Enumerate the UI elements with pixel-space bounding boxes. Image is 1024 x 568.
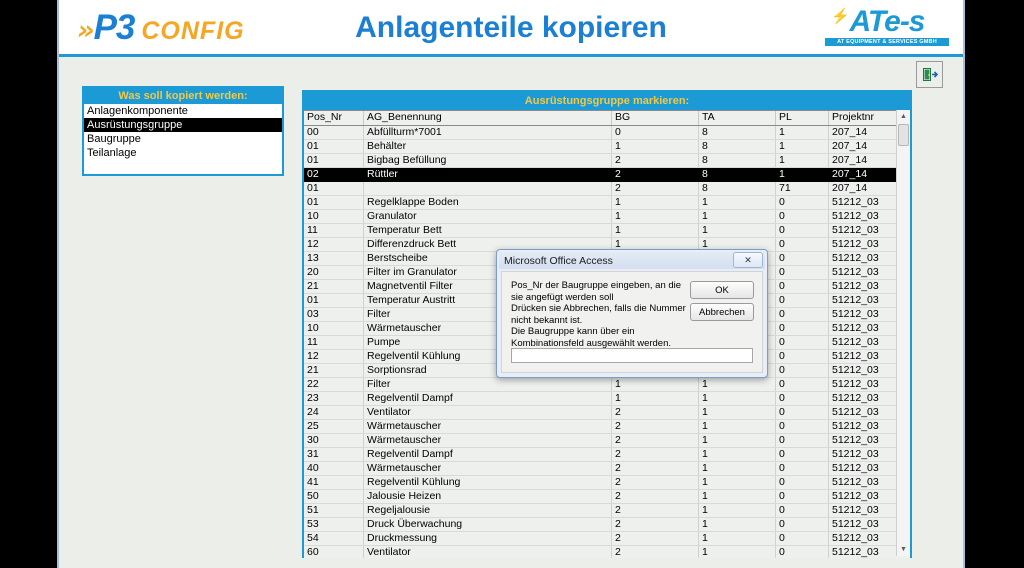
grid-row[interactable]: 30Wärmetauscher21051212_03 — [304, 434, 910, 448]
ates-company-logo: ⚡ ATe-s AT EQUIPMENT & SERVICES GMBH — [825, 6, 949, 46]
grid-cell: 51212_03 — [829, 392, 900, 405]
grid-cell: 21 — [304, 280, 364, 293]
grid-cell: 0 — [776, 266, 829, 279]
grid-cell: 0 — [776, 504, 829, 517]
grid-column-header[interactable]: Projektnr — [829, 111, 900, 125]
grid-cell: 51212_03 — [829, 280, 900, 293]
copy-target-panel-title: Was soll kopiert werden: — [84, 88, 282, 104]
grid-cell: 24 — [304, 406, 364, 419]
grid-row[interactable]: 012871207_14 — [304, 182, 910, 196]
grid-cell: 51212_03 — [829, 308, 900, 321]
scrollbar-thumb[interactable] — [898, 124, 909, 146]
grid-cell: 1 — [699, 378, 776, 391]
grid-cell: 0 — [776, 532, 829, 545]
dialog-message-line: Pos_Nr der Baugruppe eingeben, an die si… — [511, 280, 686, 303]
grid-row[interactable]: 00Abfüllturm*7001081207_14 — [304, 126, 910, 140]
ates-subtitle: AT EQUIPMENT & SERVICES GMBH — [825, 38, 949, 46]
grid-vertical-scrollbar[interactable]: ▲ ▼ — [896, 110, 910, 556]
grid-cell: 50 — [304, 490, 364, 503]
grid-cell: 1 — [612, 196, 699, 209]
grid-cell: 01 — [304, 294, 364, 307]
grid-row[interactable]: 01Bigbag Befüllung281207_14 — [304, 154, 910, 168]
grid-cell: Filter — [364, 378, 612, 391]
exit-door-icon[interactable] — [916, 61, 943, 88]
grid-cell: 51212_03 — [829, 196, 900, 209]
grid-cell: Regelventil Dampf — [364, 448, 612, 461]
grid-cell: 51212_03 — [829, 238, 900, 251]
grid-cell: 2 — [612, 504, 699, 517]
grid-cell: Druckmessung — [364, 532, 612, 545]
application-window: » P3 CONFIG Anlagenteile kopieren ⚡ ATe-… — [57, 0, 965, 568]
grid-cell: 1 — [699, 532, 776, 545]
grid-cell: 02 — [304, 168, 364, 181]
grid-cell: 2 — [612, 476, 699, 489]
grid-row[interactable]: 54Druckmessung21051212_03 — [304, 532, 910, 546]
grid-row[interactable]: 40Wärmetauscher21051212_03 — [304, 462, 910, 476]
grid-cell: 1 — [699, 504, 776, 517]
grid-cell: 51212_03 — [829, 294, 900, 307]
grid-cell: 0 — [612, 126, 699, 139]
grid-row[interactable]: 51Regeljalousie21051212_03 — [304, 504, 910, 518]
grid-cell: 12 — [304, 350, 364, 363]
grid-cell: 51212_03 — [829, 252, 900, 265]
grid-cell: 54 — [304, 532, 364, 545]
grid-cell: 2 — [612, 518, 699, 531]
grid-cell: 0 — [776, 238, 829, 251]
grid-cell: 51212_03 — [829, 448, 900, 461]
grid-cell: 2 — [612, 154, 699, 167]
grid-column-header[interactable]: TA — [699, 111, 776, 125]
grid-row[interactable]: 02Rüttler281207_14 — [304, 168, 910, 182]
grid-cell: 2 — [612, 546, 699, 558]
grid-cell: 51212_03 — [829, 420, 900, 433]
grid-cell: 2 — [612, 168, 699, 181]
grid-cell: 8 — [699, 168, 776, 181]
grid-cell: 10 — [304, 322, 364, 335]
scroll-up-arrow-icon[interactable]: ▲ — [897, 110, 910, 123]
grid-cell: 2 — [612, 182, 699, 195]
grid-cell: 12 — [304, 238, 364, 251]
grid-row[interactable]: 01Regelklappe Boden11051212_03 — [304, 196, 910, 210]
grid-cell: 1 — [699, 196, 776, 209]
grid-cell: 0 — [776, 364, 829, 377]
grid-cell: 22 — [304, 378, 364, 391]
grid-cell: 207_14 — [829, 140, 900, 153]
grid-cell: 0 — [776, 294, 829, 307]
grid-cell — [364, 182, 612, 195]
grid-cell: 51212_03 — [829, 406, 900, 419]
grid-cell: 11 — [304, 224, 364, 237]
grid-cell: 51212_03 — [829, 434, 900, 447]
grid-cell: 51212_03 — [829, 532, 900, 545]
grid-cell: 0 — [776, 336, 829, 349]
grid-cell: Regelventil Kühlung — [364, 476, 612, 489]
grid-row[interactable]: 22Filter11051212_03 — [304, 378, 910, 392]
copy-target-item[interactable]: Teilanlage — [84, 146, 282, 160]
grid-cell: 11 — [304, 336, 364, 349]
grid-row[interactable]: 60Ventilator21051212_03 — [304, 546, 910, 558]
grid-row[interactable]: 50Jalousie Heizen21051212_03 — [304, 490, 910, 504]
grid-cell: Wärmetauscher — [364, 420, 612, 433]
grid-cell: 1 — [699, 518, 776, 531]
grid-cell: 0 — [776, 322, 829, 335]
grid-title: Ausrüstungsgruppe markieren: — [304, 92, 910, 110]
grid-cell: 51212_03 — [829, 322, 900, 335]
grid-row[interactable]: 41Regelventil Kühlung21051212_03 — [304, 476, 910, 490]
grid-cell: 8 — [699, 154, 776, 167]
exit-door-glyph — [921, 66, 938, 83]
grid-cell: 8 — [699, 182, 776, 195]
grid-cell: 1 — [776, 140, 829, 153]
grid-row[interactable]: 53Druck Überwachung21051212_03 — [304, 518, 910, 532]
dialog-message: Pos_Nr der Baugruppe eingeben, an die si… — [511, 280, 686, 349]
grid-cell: 1 — [699, 448, 776, 461]
grid-cell: 1 — [612, 224, 699, 237]
grid-cell: 51212_03 — [829, 266, 900, 279]
grid-cell: 01 — [304, 154, 364, 167]
grid-cell: 51212_03 — [829, 210, 900, 223]
grid-cell: 30 — [304, 434, 364, 447]
grid-cell: 51212_03 — [829, 224, 900, 237]
grid-cell: 1 — [776, 168, 829, 181]
grid-cell: Regelventil Dampf — [364, 392, 612, 405]
grid-cell: 23 — [304, 392, 364, 405]
grid-cell: 0 — [776, 420, 829, 433]
grid-cell: 1 — [612, 378, 699, 391]
grid-row[interactable]: 11Temperatur Bett11051212_03 — [304, 224, 910, 238]
access-input-dialog: Microsoft Office Access ✕ Pos_Nr der Bau… — [496, 249, 768, 378]
copy-target-panel: Was soll kopiert werden: Anlagenkomponen… — [82, 86, 284, 176]
grid-cell: 0 — [776, 518, 829, 531]
grid-cell: Granulator — [364, 210, 612, 223]
dialog-title-bar: Microsoft Office Access — [499, 252, 765, 269]
ok-button[interactable]: OK — [690, 281, 754, 299]
grid-cell: 0 — [776, 210, 829, 223]
grid-cell: 53 — [304, 518, 364, 531]
grid-cell: 00 — [304, 126, 364, 139]
grid-row[interactable]: 25Wärmetauscher21051212_03 — [304, 420, 910, 434]
grid-cell: 2 — [612, 420, 699, 433]
grid-cell: 2 — [612, 406, 699, 419]
grid-column-header[interactable]: Pos_Nr — [304, 111, 364, 125]
grid-cell: Regelklappe Boden — [364, 196, 612, 209]
grid-row[interactable]: 24Ventilator21051212_03 — [304, 406, 910, 420]
grid-cell: 1 — [776, 126, 829, 139]
grid-cell: 0 — [776, 462, 829, 475]
grid-cell: Jalousie Heizen — [364, 490, 612, 503]
grid-row[interactable]: 10Granulator11051212_03 — [304, 210, 910, 224]
grid-cell: 0 — [776, 476, 829, 489]
app-header: » P3 CONFIG Anlagenteile kopieren ⚡ ATe-… — [59, 0, 963, 57]
grid-header-row: Pos_NrAG_BenennungBGTAPLProjektnr — [304, 110, 910, 126]
grid-cell: 21 — [304, 364, 364, 377]
grid-cell: 0 — [776, 308, 829, 321]
grid-cell: 1 — [699, 434, 776, 447]
grid-cell: 51212_03 — [829, 518, 900, 531]
grid-cell: Regeljalousie — [364, 504, 612, 517]
grid-cell: 0 — [776, 406, 829, 419]
copy-target-item[interactable]: Ausrüstungsgruppe — [84, 118, 282, 132]
grid-cell: 1 — [776, 154, 829, 167]
grid-cell: 0 — [776, 490, 829, 503]
grid-cell: 51212_03 — [829, 476, 900, 489]
grid-row[interactable]: 23Regelventil Dampf11051212_03 — [304, 392, 910, 406]
cancel-button[interactable]: Abbrechen — [690, 303, 754, 321]
grid-cell: Wärmetauscher — [364, 434, 612, 447]
grid-cell: 207_14 — [829, 168, 900, 181]
grid-cell: 2 — [612, 434, 699, 447]
grid-cell: 207_14 — [829, 126, 900, 139]
grid-cell: 8 — [699, 126, 776, 139]
grid-cell: 0 — [776, 448, 829, 461]
grid-cell: 0 — [776, 224, 829, 237]
dialog-message-line: Die Baugruppe kann über ein Kombinations… — [511, 326, 686, 349]
grid-cell: 1 — [612, 140, 699, 153]
grid-cell: 71 — [776, 182, 829, 195]
grid-column-header[interactable]: PL — [776, 111, 829, 125]
grid-cell: 1 — [612, 392, 699, 405]
grid-cell: 51212_03 — [829, 364, 900, 377]
copy-target-item[interactable]: Baugruppe — [84, 132, 282, 146]
grid-cell: 0 — [776, 280, 829, 293]
grid-cell: 01 — [304, 182, 364, 195]
grid-cell: 2 — [612, 532, 699, 545]
dialog-body: Pos_Nr der Baugruppe eingeben, an die si… — [501, 271, 763, 373]
grid-cell: 1 — [699, 490, 776, 503]
grid-cell: 1 — [699, 210, 776, 223]
grid-cell: 13 — [304, 252, 364, 265]
grid-cell: Wärmetauscher — [364, 462, 612, 475]
grid-cell: Ventilator — [364, 546, 612, 558]
grid-cell: Rüttler — [364, 168, 612, 181]
grid-cell: 2 — [612, 490, 699, 503]
grid-cell: Abfüllturm*7001 — [364, 126, 612, 139]
grid-cell: 51212_03 — [829, 490, 900, 503]
grid-column-header[interactable]: BG — [612, 111, 699, 125]
grid-cell: Ventilator — [364, 406, 612, 419]
grid-cell: 25 — [304, 420, 364, 433]
dialog-title: Microsoft Office Access — [499, 255, 613, 267]
copy-target-list[interactable]: AnlagenkomponenteAusrüstungsgruppeBaugru… — [84, 104, 282, 160]
grid-column-header[interactable]: AG_Benennung — [364, 111, 612, 125]
grid-cell: 51212_03 — [829, 378, 900, 391]
dialog-message-line: Drücken sie Abbrechen, falls die Nummer … — [511, 303, 686, 326]
grid-cell: Druck Überwachung — [364, 518, 612, 531]
posnr-input-field[interactable] — [511, 348, 753, 363]
grid-cell: 51212_03 — [829, 350, 900, 363]
copy-target-item[interactable]: Anlagenkomponente — [84, 104, 282, 118]
grid-cell: 2 — [612, 448, 699, 461]
grid-cell: 0 — [776, 392, 829, 405]
grid-cell: Temperatur Bett — [364, 224, 612, 237]
grid-cell: 1 — [699, 420, 776, 433]
grid-cell: Behälter — [364, 140, 612, 153]
grid-cell: 51212_03 — [829, 546, 900, 558]
grid-cell: 0 — [776, 252, 829, 265]
grid-cell: 10 — [304, 210, 364, 223]
grid-cell: 1 — [699, 546, 776, 558]
grid-cell: 8 — [699, 140, 776, 153]
grid-cell: 207_14 — [829, 182, 900, 195]
ates-wordmark: ATe-s — [849, 5, 924, 38]
grid-cell: 1 — [699, 462, 776, 475]
grid-cell: 0 — [776, 434, 829, 447]
grid-cell: 0 — [776, 546, 829, 558]
grid-cell: 0 — [776, 378, 829, 391]
grid-cell: 0 — [776, 350, 829, 363]
close-icon[interactable]: ✕ — [733, 252, 763, 268]
grid-cell: 1 — [699, 406, 776, 419]
grid-cell: 0 — [776, 196, 829, 209]
grid-cell: 1 — [612, 210, 699, 223]
grid-row[interactable]: 01Behälter181207_14 — [304, 140, 910, 154]
lightning-bolt-icon: ⚡ — [831, 1, 849, 33]
grid-cell: 1 — [699, 224, 776, 237]
scroll-down-arrow-icon[interactable]: ▼ — [897, 543, 910, 556]
ates-logo-text: ⚡ ATe-s — [825, 6, 949, 38]
grid-cell: Bigbag Befüllung — [364, 154, 612, 167]
grid-cell: 01 — [304, 196, 364, 209]
grid-cell: 03 — [304, 308, 364, 321]
grid-cell: 40 — [304, 462, 364, 475]
screenshot-stage: » P3 CONFIG Anlagenteile kopieren ⚡ ATe-… — [0, 0, 1024, 568]
grid-cell: 51212_03 — [829, 504, 900, 517]
grid-cell: 51212_03 — [829, 336, 900, 349]
grid-cell: 31 — [304, 448, 364, 461]
grid-cell: 51 — [304, 504, 364, 517]
grid-cell: 20 — [304, 266, 364, 279]
grid-cell: 01 — [304, 140, 364, 153]
grid-row[interactable]: 31Regelventil Dampf21051212_03 — [304, 448, 910, 462]
grid-cell: 207_14 — [829, 154, 900, 167]
grid-cell: 51212_03 — [829, 462, 900, 475]
grid-cell: 1 — [699, 476, 776, 489]
grid-cell: 60 — [304, 546, 364, 558]
grid-cell: 1 — [699, 392, 776, 405]
grid-cell: 2 — [612, 462, 699, 475]
grid-cell: 41 — [304, 476, 364, 489]
